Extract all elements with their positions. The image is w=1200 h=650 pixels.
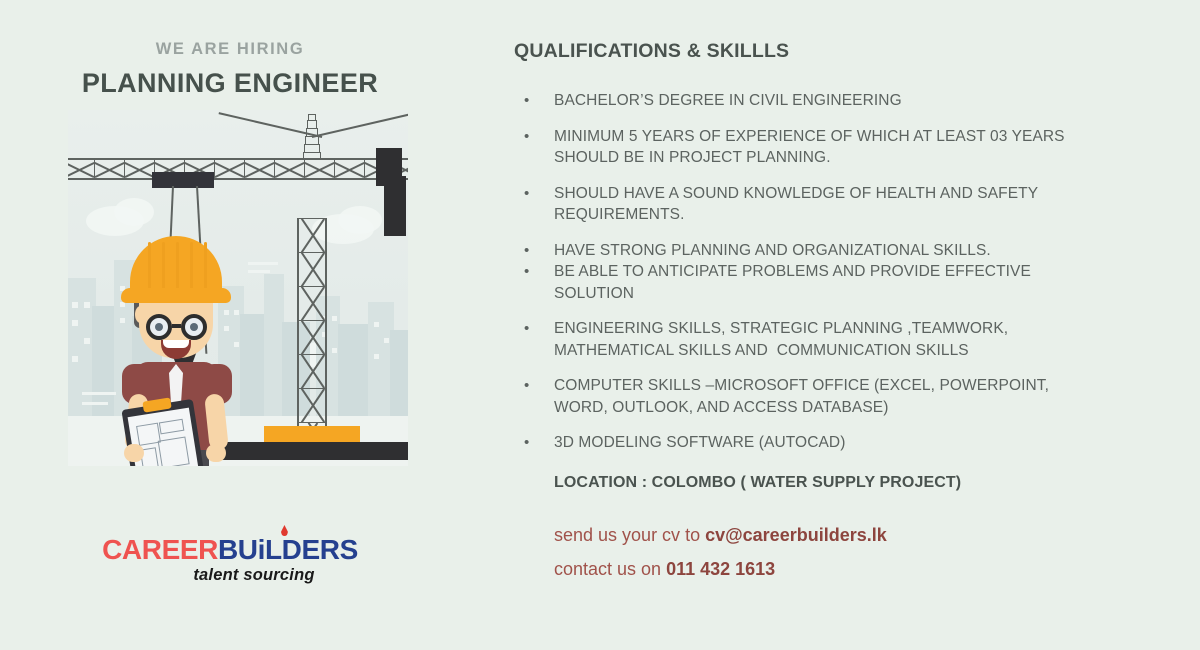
skyline-building [390, 330, 408, 418]
crane-jib-segment [68, 158, 94, 180]
crane-mast-segment [297, 218, 327, 252]
qualifications-heading: QUALIFICATIONS & SKILLLS [514, 40, 789, 63]
qualification-item-text: ENGINEERING SKILLS, STRATEGIC PLANNING ,… [554, 318, 1140, 361]
qualification-item-text: MINIMUM 5 YEARS OF EXPERIENCE OF WHICH A… [554, 126, 1140, 169]
crane-apex-segment [304, 144, 320, 152]
qualification-item: •COMPUTER SKILLS –MICROSOFT OFFICE (EXCE… [514, 375, 1140, 418]
job-advert-poster: WE ARE HIRING PLANNING ENGINEER [0, 0, 1200, 650]
qualification-item: •HAVE STRONG PLANNING AND ORGANIZATIONAL… [514, 240, 1140, 262]
email-contact-row[interactable]: send us your cv to cv@careerbuilders.lk [554, 518, 1140, 552]
window-dot [72, 356, 78, 362]
crane-mast-segment [297, 252, 327, 286]
phone-prefix: contact us on [554, 559, 666, 579]
qualification-item-text: 3D MODELING SOFTWARE (AUTOCAD) [554, 432, 1140, 454]
engineer-character [110, 222, 260, 466]
crane-jib-segment [244, 158, 274, 180]
logo-tagline: talent sourcing [48, 566, 460, 585]
bullet-point-icon: • [514, 240, 554, 262]
window-dot [332, 348, 337, 353]
bullet-point-icon: • [514, 183, 554, 205]
skyline-building [338, 324, 368, 418]
crane-jib-segment [334, 158, 364, 180]
crane-apex-segment [307, 120, 317, 128]
qualification-item-text: BACHELOR’S DEGREE IN CIVIL ENGINEERING [554, 90, 1140, 112]
qualification-item: •BE ABLE TO ANTICIPATE PROBLEMS AND PROV… [514, 261, 1140, 304]
qualification-item: •BACHELOR’S DEGREE IN CIVIL ENGINEERING [514, 90, 1140, 112]
window-dot [374, 354, 379, 359]
logo-word-builders: BUiLDERS [218, 534, 358, 565]
company-logo: CAREERBUiLDERS talent sourcing [0, 536, 460, 585]
qualification-item-text: HAVE STRONG PLANNING AND ORGANIZATIONAL … [554, 240, 1140, 262]
hard-hat-brim [121, 288, 231, 303]
crane-counterweight [384, 176, 406, 236]
window-dot [84, 302, 90, 308]
crane-apex-segment [308, 114, 316, 120]
crane-mast-segment [297, 354, 327, 388]
qualification-item: •SHOULD HAVE A SOUND KNOWLEDGE OF HEALTH… [514, 183, 1140, 226]
window-dot [332, 316, 337, 321]
window-dot [384, 338, 389, 343]
crane-mast-segment [297, 286, 327, 320]
cloud-icon [338, 206, 382, 234]
crane-mast-segment [297, 388, 327, 422]
email-address-link[interactable]: cv@careerbuilders.lk [705, 525, 887, 545]
teeth [163, 340, 189, 348]
crane-jib-segment [214, 158, 244, 180]
bullet-point-icon: • [514, 375, 554, 397]
qualification-item: •MINIMUM 5 YEARS OF EXPERIENCE OF WHICH … [514, 126, 1140, 169]
window-dot [82, 402, 108, 405]
email-prefix: send us your cv to [554, 525, 705, 545]
logo-word-builders-text: BUiLDERS [218, 534, 358, 565]
crane-mast-segment [297, 320, 327, 354]
pupil [155, 323, 163, 331]
crane-apex-segment [303, 152, 321, 160]
phone-contact-row[interactable]: contact us on 011 432 1613 [554, 552, 1140, 586]
right-column: QUALIFICATIONS & SKILLLS •BACHELOR’S DEG… [514, 0, 1154, 650]
window-dot [72, 320, 78, 326]
water-drop-icon [281, 525, 288, 536]
bullet-point-icon: • [514, 126, 554, 148]
crane-trolley [152, 172, 214, 188]
construction-illustration [68, 110, 408, 466]
qualifications-list: •BACHELOR’S DEGREE IN CIVIL ENGINEERING•… [514, 90, 1140, 586]
glasses-bridge [172, 324, 181, 328]
logo-wordmark: CAREERBUiLDERS [0, 536, 460, 564]
qualification-item: •3D MODELING SOFTWARE (AUTOCAD) [514, 432, 1140, 454]
hand [206, 444, 226, 462]
crane-jib-segment [304, 158, 334, 180]
helmet-rib [148, 242, 151, 290]
blueprint-line [159, 419, 185, 435]
blueprint-line [158, 437, 190, 466]
hand [124, 444, 144, 462]
logo-word-career: CAREER [102, 534, 218, 565]
window-dot [84, 338, 90, 344]
qualification-item-text: COMPUTER SKILLS –MICROSOFT OFFICE (EXCEL… [554, 375, 1140, 418]
crane-jib-segment [94, 158, 124, 180]
eyebrow-we-are-hiring: WE ARE HIRING [0, 40, 460, 59]
location-line: LOCATION : COLOMBO ( WATER SUPPLY PROJEC… [554, 474, 1140, 492]
contact-block: send us your cv to cv@careerbuilders.lkc… [554, 518, 1140, 586]
pupil [190, 323, 198, 331]
bullet-point-icon: • [514, 90, 554, 112]
crane-jib-segment [124, 158, 154, 180]
qualification-item-text: SHOULD HAVE A SOUND KNOWLEDGE OF HEALTH … [554, 183, 1140, 226]
skyline-building [264, 274, 284, 418]
left-column: WE ARE HIRING PLANNING ENGINEER [0, 0, 500, 650]
window-dot [72, 302, 78, 308]
helmet-rib [204, 242, 207, 290]
glasses-lens [146, 314, 172, 340]
phone-number-link[interactable]: 011 432 1613 [666, 559, 775, 579]
qualification-item: •ENGINEERING SKILLS, STRATEGIC PLANNING … [514, 318, 1140, 361]
glasses-lens [181, 314, 207, 340]
page-title: PLANNING ENGINEER [0, 68, 460, 99]
crane-jib-segment [274, 158, 304, 180]
bullet-point-icon: • [514, 261, 554, 283]
window-dot [374, 322, 379, 327]
bullet-point-icon: • [514, 432, 554, 454]
qualification-item-text: BE ABLE TO ANTICIPATE PROBLEMS AND PROVI… [554, 261, 1140, 304]
bullet-point-icon: • [514, 318, 554, 340]
